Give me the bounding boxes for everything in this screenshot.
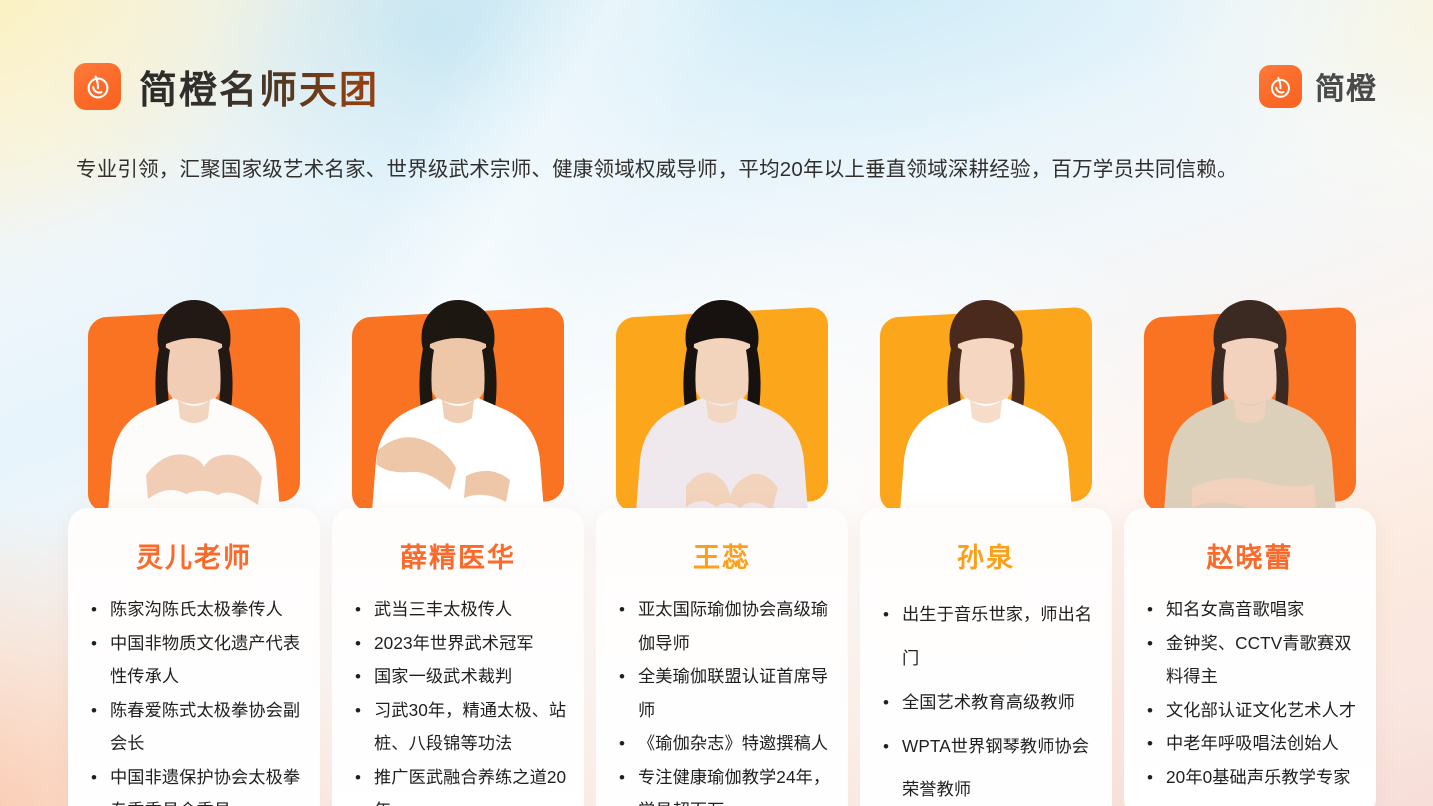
- credential-item: 推广医武融合养练之道20年: [348, 761, 568, 806]
- teacher-card-row: 灵儿老师 陈家沟陈氏太极拳传人中国非物质文化遗产代表性传承人陈春爱陈式太极拳协会…: [68, 300, 1376, 806]
- teacher-photo: [1124, 300, 1376, 512]
- teacher-portrait-figure: [1124, 300, 1376, 512]
- teacher-portrait-figure: [860, 300, 1112, 512]
- credential-item: 文化部认证文化艺术人才: [1140, 694, 1360, 728]
- teacher-card[interactable]: 王蕊 亚太国际瑜伽协会高级瑜伽导师全美瑜伽联盟认证首席导师《瑜伽杂志》特邀撰稿人…: [596, 300, 848, 806]
- credential-item: 金钟奖、CCTV青歌赛双料得主: [1140, 627, 1360, 694]
- teacher-info-panel: 灵儿老师 陈家沟陈氏太极拳传人中国非物质文化遗产代表性传承人陈春爱陈式太极拳协会…: [68, 508, 320, 806]
- teacher-name: 赵晓蕾: [1140, 536, 1360, 575]
- orange-fruit-brand-icon: [1259, 65, 1302, 108]
- teacher-photo: [860, 300, 1112, 512]
- teacher-portrait-figure: [332, 300, 584, 512]
- credential-item: 中国非遗保护协会太极拳专委委员会委员: [84, 761, 304, 806]
- credential-list: 亚太国际瑜伽协会高级瑜伽导师全美瑜伽联盟认证首席导师《瑜伽杂志》特邀撰稿人专注健…: [612, 593, 832, 806]
- orange-fruit-logo-icon: [74, 63, 121, 110]
- credential-item: 全国艺术教育高级教师: [876, 681, 1096, 725]
- teacher-card[interactable]: 薛精医华 武当三丰太极传人2023年世界武术冠军国家一级武术裁判习武30年，精通…: [332, 300, 584, 806]
- teacher-card[interactable]: 孙泉 出生于音乐世家，师出名门全国艺术教育高级教师WPTA世界钢琴教师协会荣誉教…: [860, 300, 1112, 806]
- teacher-photo: [68, 300, 320, 512]
- teacher-photo: [596, 300, 848, 512]
- credential-item: 陈春爱陈式太极拳协会副会长: [84, 694, 304, 761]
- page-subtitle: 专业引领，汇聚国家级艺术名家、世界级武术宗师、健康领域权威导师，平均20年以上垂…: [76, 152, 1346, 188]
- brand-group: 简橙: [1259, 64, 1377, 108]
- teacher-info-panel: 赵晓蕾 知名女高音歌唱家金钟奖、CCTV青歌赛双料得主文化部认证文化艺术人才中老…: [1124, 508, 1376, 806]
- credential-item: WPTA世界钢琴教师协会荣誉教师: [876, 725, 1096, 806]
- page-title: 简橙名师天团: [139, 59, 379, 114]
- credential-list: 武当三丰太极传人2023年世界武术冠军国家一级武术裁判习武30年，精通太极、站桩…: [348, 593, 568, 806]
- teacher-name: 王蕊: [612, 536, 832, 575]
- teacher-info-panel: 王蕊 亚太国际瑜伽协会高级瑜伽导师全美瑜伽联盟认证首席导师《瑜伽杂志》特邀撰稿人…: [596, 508, 848, 806]
- teacher-card[interactable]: 赵晓蕾 知名女高音歌唱家金钟奖、CCTV青歌赛双料得主文化部认证文化艺术人才中老…: [1124, 300, 1376, 806]
- title-group: 简橙名师天团: [74, 59, 379, 114]
- credential-item: 习武30年，精通太极、站桩、八段锦等功法: [348, 694, 568, 761]
- teacher-portrait-figure: [68, 300, 320, 512]
- teacher-name: 薛精医华: [348, 536, 568, 575]
- credential-item: 出生于音乐世家，师出名门: [876, 593, 1096, 681]
- credential-item: 知名女高音歌唱家: [1140, 593, 1360, 627]
- teacher-photo: [332, 300, 584, 512]
- teacher-card[interactable]: 灵儿老师 陈家沟陈氏太极拳传人中国非物质文化遗产代表性传承人陈春爱陈式太极拳协会…: [68, 300, 320, 806]
- credential-list: 陈家沟陈氏太极拳传人中国非物质文化遗产代表性传承人陈春爱陈式太极拳协会副会长中国…: [84, 593, 304, 806]
- teacher-portrait-figure: [596, 300, 848, 512]
- credential-item: 专注健康瑜伽教学24年，学员超百万: [612, 761, 832, 806]
- credential-list: 知名女高音歌唱家金钟奖、CCTV青歌赛双料得主文化部认证文化艺术人才中老年呼吸唱…: [1140, 593, 1360, 794]
- page-header: 简橙名师天团 简橙: [74, 56, 1377, 116]
- teacher-name: 灵儿老师: [84, 536, 304, 575]
- brand-name: 简橙: [1315, 64, 1377, 108]
- credential-item: 国家一级武术裁判: [348, 660, 568, 694]
- teacher-info-panel: 薛精医华 武当三丰太极传人2023年世界武术冠军国家一级武术裁判习武30年，精通…: [332, 508, 584, 806]
- credential-item: 亚太国际瑜伽协会高级瑜伽导师: [612, 593, 832, 660]
- teacher-info-panel: 孙泉 出生于音乐世家，师出名门全国艺术教育高级教师WPTA世界钢琴教师协会荣誉教…: [860, 508, 1112, 806]
- credential-item: 全美瑜伽联盟认证首席导师: [612, 660, 832, 727]
- credential-item: 武当三丰太极传人: [348, 593, 568, 627]
- credential-item: 中老年呼吸唱法创始人: [1140, 727, 1360, 761]
- credential-item: 中国非物质文化遗产代表性传承人: [84, 627, 304, 694]
- credential-item: 2023年世界武术冠军: [348, 627, 568, 661]
- teacher-name: 孙泉: [876, 536, 1096, 575]
- credential-item: 20年0基础声乐教学专家: [1140, 761, 1360, 795]
- credential-item: 《瑜伽杂志》特邀撰稿人: [612, 727, 832, 761]
- credential-list: 出生于音乐世家，师出名门全国艺术教育高级教师WPTA世界钢琴教师协会荣誉教师口诀…: [876, 593, 1096, 806]
- credential-item: 陈家沟陈氏太极拳传人: [84, 593, 304, 627]
